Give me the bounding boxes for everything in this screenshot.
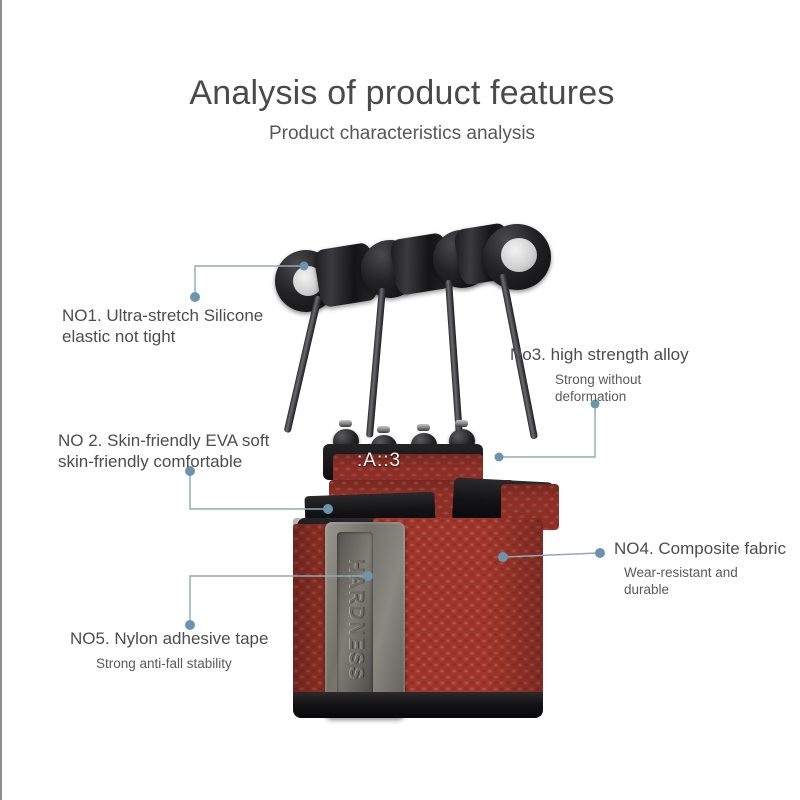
callout-no2: NO 2. Skin-friendly EVA soft skin-friend… <box>58 430 348 472</box>
callout-no5-title: NO5. Nylon adhesive tape <box>70 628 320 649</box>
callout-no5-subtitle: Strong anti-fall stability <box>96 655 320 672</box>
product-stamp-text: :A::3 <box>357 450 401 472</box>
callout-no2-title: NO 2. Skin-friendly EVA soft skin-friend… <box>58 430 348 472</box>
page-subtitle: Product characteristics analysis <box>2 123 800 145</box>
leader-dot-no1-label <box>190 292 200 302</box>
product-feature-infographic: Analysis of product features Product cha… <box>0 0 800 800</box>
callout-no4-subtitle: Wear-resistant and durable <box>624 564 800 598</box>
callout-no1-title: NO1. Ultra-stretch Silicone elastic not … <box>62 305 332 347</box>
callout-no3-title: No3. high strength alloy <box>510 344 770 365</box>
finger-ring-4-hole <box>501 238 537 272</box>
callout-no5: NO5. Nylon adhesive tape Strong anti-fal… <box>70 628 320 672</box>
hardness-buckle-slot: HARDNESS <box>337 532 373 708</box>
callout-no1: NO1. Ultra-stretch Silicone elastic not … <box>62 305 332 347</box>
rod-ferrule-2 <box>377 426 390 433</box>
rod-ferrule-3 <box>417 424 430 431</box>
page-title: Analysis of product features <box>2 74 800 113</box>
callout-no4: NO4. Composite fabric Wear-resistant and… <box>614 538 800 598</box>
rod-ferrule-1 <box>339 420 352 427</box>
leader-dot-no4-label <box>595 548 605 558</box>
rod-ferrule-4 <box>455 420 468 427</box>
callout-no4-title: NO4. Composite fabric <box>614 538 800 559</box>
callout-no3: No3. high strength alloy Strong without … <box>510 344 770 405</box>
strap-bottom-edge <box>293 692 543 718</box>
buckle-brand-text: HARDNESS <box>344 559 366 682</box>
callout-no3-subtitle: Strong without deformation <box>555 371 770 405</box>
